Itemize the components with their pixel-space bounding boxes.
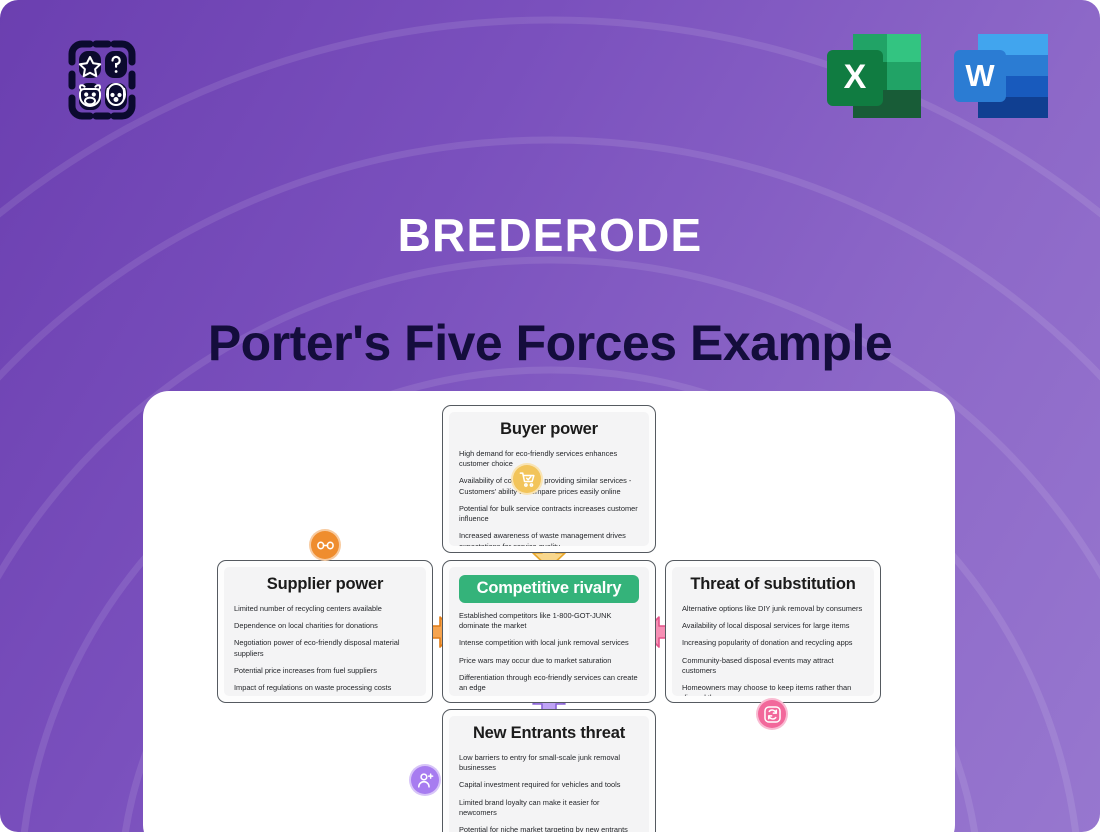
page-title: Porter's Five Forces Example — [0, 314, 1100, 372]
force-box-rivalry-bullets: Established competitors like 1-800-GOT-J… — [459, 611, 639, 696]
force-box-new-entrants-bullets: Low barriers to entry for small-scale ju… — [459, 753, 639, 832]
force-box-buyer[interactable]: Buyer power High demand for eco-friendly… — [442, 405, 656, 553]
svg-text:X: X — [844, 58, 867, 96]
user-plus-icon — [409, 764, 441, 796]
brederode-logo — [52, 30, 152, 130]
refresh-icon — [756, 698, 788, 730]
force-box-new-entrants-inner: New Entrants threat Low barriers to entr… — [449, 716, 649, 832]
force-box-substitution-title: Threat of substitution — [682, 575, 864, 594]
list-item: Alternative options like DIY junk remova… — [682, 604, 864, 614]
force-box-substitution[interactable]: Threat of substitution Alternative optio… — [665, 560, 881, 703]
list-item: Increasing popularity of donation and re… — [682, 638, 864, 648]
force-box-buyer-title: Buyer power — [459, 420, 639, 439]
five-forces-diagram: Buyer power High demand for eco-friendly… — [143, 391, 955, 832]
list-item: Impact of regulations on waste processin… — [234, 683, 416, 693]
force-box-supplier-title: Supplier power — [234, 575, 416, 594]
list-item: Potential for bulk service contracts inc… — [459, 504, 639, 524]
svg-text:W: W — [965, 58, 995, 93]
slide-canvas: X W BREDERODE Porter's Five Forces Examp… — [0, 0, 1100, 832]
list-item: Capital investment required for vehicles… — [459, 780, 639, 790]
list-item: Homeowners may choose to keep items rath… — [682, 683, 864, 696]
list-item: Community-based disposal events may attr… — [682, 656, 864, 676]
force-box-new-entrants[interactable]: New Entrants threat Low barriers to entr… — [442, 709, 656, 832]
list-item: Dependence on local charities for donati… — [234, 621, 416, 631]
list-item: Established competitors like 1-800-GOT-J… — [459, 611, 639, 631]
force-box-substitution-inner: Threat of substitution Alternative optio… — [672, 567, 874, 696]
force-box-rivalry-inner: Competitive rivalry Established competit… — [449, 567, 649, 696]
force-box-supplier-bullets: Limited number of recycling centers avai… — [234, 604, 416, 693]
brand-name: BREDERODE — [0, 208, 1100, 262]
list-item: Intense competition with local junk remo… — [459, 638, 639, 648]
list-item: Limited number of recycling centers avai… — [234, 604, 416, 614]
list-item: Availability of local disposal services … — [682, 621, 864, 631]
list-item: Low barriers to entry for small-scale ju… — [459, 753, 639, 773]
force-box-buyer-inner: Buyer power High demand for eco-friendly… — [449, 412, 649, 546]
list-item: Limited brand loyalty can make it easier… — [459, 798, 639, 818]
force-box-buyer-bullets: High demand for eco-friendly services en… — [459, 449, 639, 546]
diagram-card: Buyer power High demand for eco-friendly… — [143, 391, 955, 832]
list-item: Price wars may occur due to market satur… — [459, 656, 639, 666]
link-icon — [309, 529, 341, 561]
list-item: Negotiation power of eco-friendly dispos… — [234, 638, 416, 658]
list-item: Potential for niche market targeting by … — [459, 825, 639, 832]
list-item: Availability of competitors providing si… — [459, 476, 639, 496]
list-item: Potential price increases from fuel supp… — [234, 666, 416, 676]
list-item: Increased awareness of waste management … — [459, 531, 639, 546]
force-box-substitution-bullets: Alternative options like DIY junk remova… — [682, 604, 864, 696]
force-box-rivalry[interactable]: Competitive rivalry Established competit… — [442, 560, 656, 703]
force-box-supplier[interactable]: Supplier power Limited number of recycli… — [217, 560, 433, 703]
force-box-new-entrants-title: New Entrants threat — [459, 724, 639, 743]
list-item: High demand for eco-friendly services en… — [459, 449, 639, 469]
force-box-rivalry-title: Competitive rivalry — [459, 575, 639, 603]
word-icon: W — [952, 30, 1052, 122]
list-item: Differentiation through eco-friendly ser… — [459, 673, 639, 693]
force-box-supplier-inner: Supplier power Limited number of recycli… — [224, 567, 426, 696]
office-app-icons: X W — [824, 30, 1052, 122]
excel-icon: X — [824, 30, 924, 122]
shopping-cart-icon — [511, 463, 543, 495]
